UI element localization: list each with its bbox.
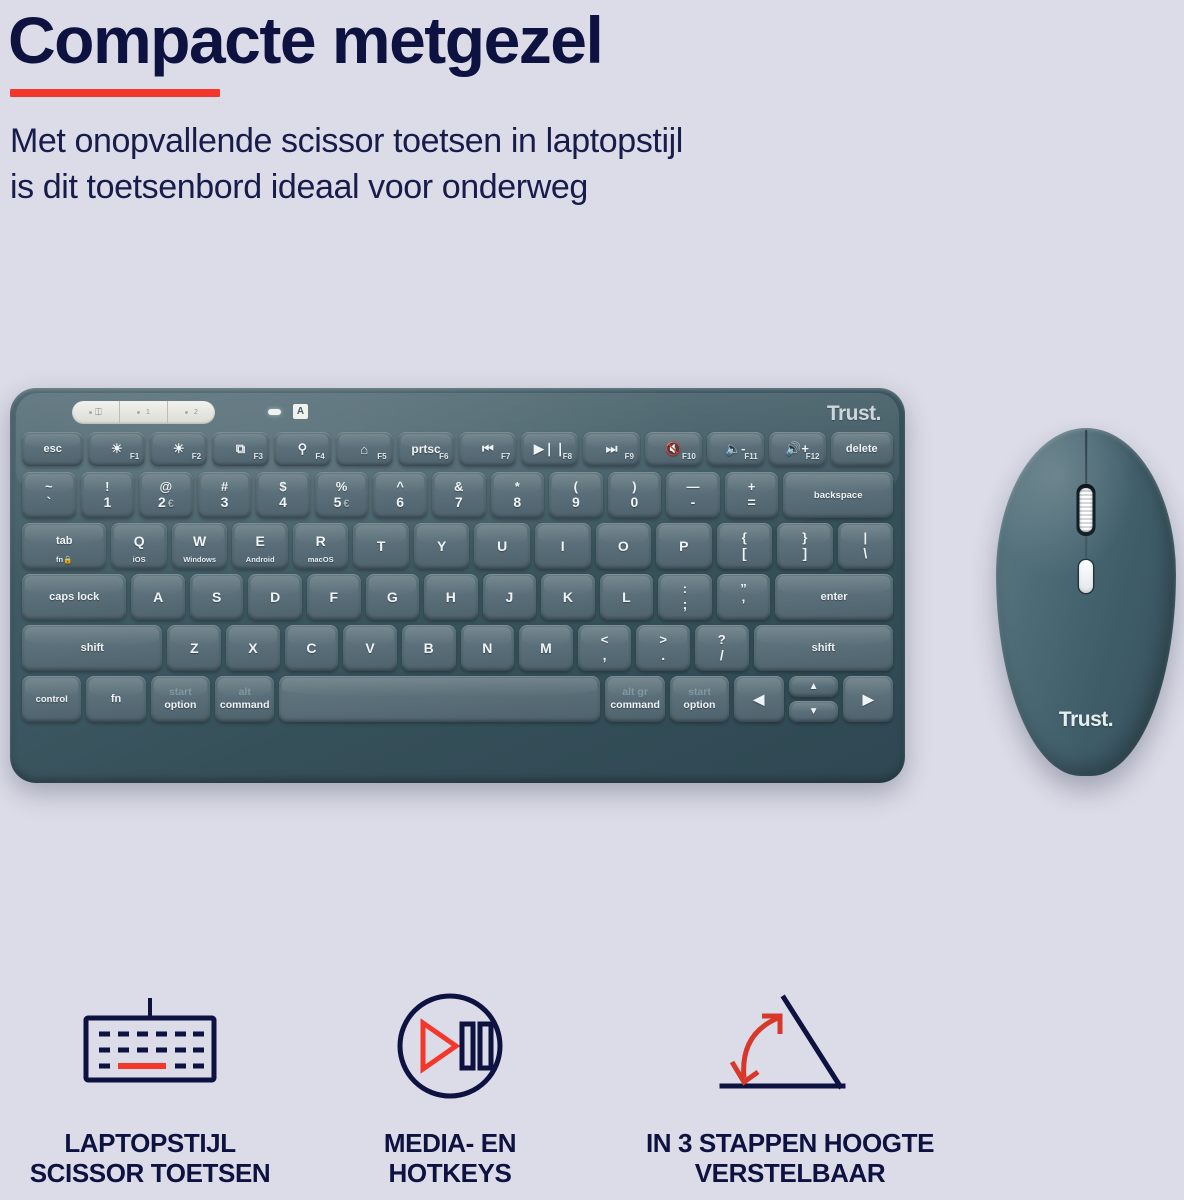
key-c[interactable]: C — [285, 625, 339, 671]
key-u[interactable]: U — [474, 523, 530, 569]
euro-symbol: € — [168, 498, 174, 510]
key-backspace[interactable]: backspace — [783, 472, 893, 518]
key-label-secondary: alt gr — [622, 686, 648, 699]
key-label: A — [153, 589, 163, 605]
key-arrow-right[interactable]: ▶ — [843, 676, 893, 722]
key-v[interactable]: V — [343, 625, 397, 671]
key-legend-upper: * — [515, 480, 520, 494]
key-9[interactable]: (9 — [549, 472, 603, 518]
key-f5-home[interactable]: ⌂F5 — [336, 432, 393, 466]
key-fnum: F4 — [315, 452, 324, 461]
key-fnum: F2 — [192, 452, 201, 461]
key-y[interactable]: Y — [414, 523, 470, 569]
key-f[interactable]: F — [307, 574, 361, 620]
header: Compacte metgezel Met onopvallende sciss… — [8, 0, 1008, 210]
key-shift-right[interactable]: shift — [754, 625, 893, 671]
key-t[interactable]: T — [353, 523, 409, 569]
key-label: enter — [821, 591, 848, 603]
key-label: H — [446, 589, 456, 605]
key-legend-lower: ` — [46, 495, 51, 510]
key-label: X — [248, 640, 257, 656]
key-legend-lower: [ — [742, 546, 747, 561]
key-label: prtsc — [411, 442, 440, 456]
key-label: C — [306, 640, 316, 656]
channel-usb-receiver[interactable]: ⎅ — [72, 401, 119, 424]
key-r[interactable]: RmacOS — [293, 523, 349, 569]
os-sublabel-ios: iOS — [111, 555, 167, 564]
channel-label: 2 — [194, 409, 198, 416]
key-row-function: esc ☀F1 ☀F2 ⧉F3 ⚲F4 ⌂F5 prtscF6 ⏮F7 ▶❘❘F… — [22, 432, 893, 466]
key-legend-lower: ; — [683, 597, 688, 612]
key-l[interactable]: L — [600, 574, 654, 620]
key-n[interactable]: N — [461, 625, 515, 671]
key-b[interactable]: B — [402, 625, 456, 671]
key-esc[interactable]: esc — [22, 432, 83, 466]
mouse-product-image: Trust. — [996, 428, 1176, 776]
key-a[interactable]: A — [131, 574, 185, 620]
key-legend-lower: ] — [802, 546, 807, 561]
media-play-pause-icon — [330, 990, 570, 1102]
key-delete[interactable]: delete — [831, 432, 894, 466]
key-legend-lower: 9 — [572, 495, 580, 510]
caps-lock-badge: A — [293, 404, 308, 419]
key-f1-brightness-down[interactable]: ☀F1 — [88, 432, 145, 466]
key-period[interactable]: >. — [636, 625, 690, 671]
mouse-brand-logo: Trust. — [996, 708, 1176, 732]
key-5[interactable]: %5€ — [315, 472, 369, 518]
key-legend-lower: - — [691, 495, 696, 510]
key-caps-lock[interactable]: caps lock — [22, 574, 126, 620]
key-legend-upper: $ — [279, 480, 286, 494]
key-legend-lower: 0 — [631, 495, 639, 510]
key-fnum: F1 — [130, 452, 139, 461]
key-legend-lower: / — [720, 648, 724, 663]
previous-track-icon: ⏮ — [482, 441, 494, 457]
key-f9-next-track[interactable]: ⏭F9 — [583, 432, 640, 466]
key-row-shift: shift Z X C V B N M <, >. ?/ shift — [22, 625, 893, 671]
key-8[interactable]: *8 — [491, 472, 545, 518]
key-label: E — [255, 533, 264, 549]
key-label: D — [270, 589, 280, 605]
adjustable-angle-icon — [600, 990, 980, 1102]
arrow-up-icon: ▲ — [809, 681, 819, 692]
key-label: R — [316, 533, 326, 549]
key-alt-command-left[interactable]: altcommand — [215, 676, 274, 722]
subtitle-line-2: is dit toetsenbord ideaal voor onderweg — [10, 165, 1008, 210]
key-legend-upper: ” — [740, 582, 747, 596]
key-label: I — [561, 538, 565, 554]
key-label: fn — [111, 693, 121, 705]
volume-down-icon: 🔈- — [725, 441, 746, 457]
key-label-primary: option — [683, 699, 715, 712]
key-0[interactable]: )0 — [608, 472, 662, 518]
key-j[interactable]: J — [483, 574, 537, 620]
key-minus[interactable]: —- — [666, 472, 720, 518]
key-bracket-left[interactable]: {[ — [717, 523, 773, 569]
key-k[interactable]: K — [541, 574, 595, 620]
key-label: caps lock — [49, 591, 99, 603]
dpi-button[interactable] — [1079, 560, 1093, 593]
key-3[interactable]: #3 — [198, 472, 252, 518]
key-label: N — [482, 640, 492, 656]
key-m[interactable]: M — [519, 625, 573, 671]
key-6[interactable]: ^6 — [373, 472, 427, 518]
key-x[interactable]: X — [226, 625, 280, 671]
key-g[interactable]: G — [366, 574, 420, 620]
key-label: W — [193, 533, 206, 549]
key-fn[interactable]: fn — [86, 676, 145, 722]
key-label: P — [679, 538, 688, 554]
channel-led-dot — [137, 411, 140, 414]
fn-lock-sublabel: fn🔒 — [22, 555, 106, 564]
key-label: delete — [846, 443, 878, 455]
key-arrow-up[interactable]: ▲ — [789, 676, 839, 697]
search-icon: ⚲ — [298, 441, 308, 457]
key-legend-upper: % — [336, 480, 348, 494]
mouse-shell: Trust. — [996, 428, 1176, 776]
key-arrow-down[interactable]: ▼ — [789, 701, 839, 722]
scroll-wheel-slot — [1077, 484, 1096, 536]
keyboard-icon — [10, 990, 290, 1102]
keyboard-status-bar: ⎅ 𞅎 1 𞅎 2 A Trust. — [10, 396, 905, 430]
brightness-down-icon: ☀ — [111, 441, 123, 457]
feature-label-line-2: VERSTELBAAR — [600, 1158, 980, 1188]
key-shift-left[interactable]: shift — [22, 625, 162, 671]
channel-bluetooth-1[interactable]: 𞅎 1 — [119, 401, 167, 424]
subtitle: Met onopvallende scissor toetsen in lapt… — [10, 119, 1008, 209]
key-2[interactable]: @2€ — [139, 472, 193, 518]
usb-receiver-icon: ⎅ — [95, 408, 102, 417]
feature-label: LAPTOPSTIJL SCISSOR TOETSEN — [10, 1128, 290, 1189]
key-e[interactable]: EAndroid — [232, 523, 288, 569]
mute-icon: 🔇 — [665, 441, 681, 457]
key-fnum: F10 — [682, 452, 696, 461]
key-z[interactable]: Z — [167, 625, 221, 671]
key-label: tab — [56, 535, 73, 547]
key-spacebar[interactable] — [279, 676, 600, 722]
feature-label-line-1: LAPTOPSTIJL — [10, 1128, 290, 1158]
key-label: K — [563, 589, 573, 605]
key-legend-upper: { — [742, 531, 747, 545]
key-semicolon[interactable]: :; — [658, 574, 712, 620]
key-f12-volume-up[interactable]: 🔊+F12 — [769, 432, 826, 466]
key-label: Z — [190, 640, 199, 656]
key-f11-volume-down[interactable]: 🔈-F11 — [707, 432, 764, 466]
arrow-down-icon: ▼ — [809, 706, 819, 717]
key-fnum: F5 — [377, 452, 386, 461]
key-fnum: F3 — [254, 452, 263, 461]
status-led — [268, 409, 281, 415]
key-bracket-right[interactable]: }] — [777, 523, 833, 569]
key-legend-upper: } — [802, 531, 807, 545]
key-legend-upper: | — [864, 531, 868, 545]
os-sublabel-windows: Windows — [172, 555, 228, 564]
key-equals[interactable]: += — [725, 472, 779, 518]
key-start-option-right[interactable]: startoption — [670, 676, 729, 722]
scroll-wheel[interactable] — [1080, 488, 1093, 532]
key-label: F — [329, 589, 338, 605]
key-label: shift — [812, 642, 835, 654]
key-tab[interactable]: tabfn🔒 — [22, 523, 106, 569]
key-label: Y — [437, 538, 446, 554]
key-f4-search[interactable]: ⚲F4 — [274, 432, 331, 466]
key-legend-lower: 7 — [455, 495, 463, 510]
key-fnum: F12 — [806, 452, 820, 461]
next-track-icon: ⏭ — [606, 441, 618, 457]
key-legend-lower: , — [603, 648, 607, 663]
key-label: S — [212, 589, 221, 605]
feature-label-line-1: IN 3 STAPPEN HOOGTE — [600, 1128, 980, 1158]
key-row-home: caps lock A S D F G H J K L :; ”’ enter — [22, 574, 893, 620]
key-h[interactable]: H — [424, 574, 478, 620]
key-legend-upper: — — [686, 480, 699, 494]
feature-label-line-1: MEDIA- EN — [330, 1128, 570, 1158]
key-label: Q — [134, 533, 145, 549]
key-legend-lower: \ — [863, 546, 867, 561]
play-pause-icon: ▶❘❘ — [534, 441, 566, 457]
key-comma[interactable]: <, — [578, 625, 632, 671]
key-slash[interactable]: ?/ — [695, 625, 749, 671]
subtitle-line-1: Met onopvallende scissor toetsen in lapt… — [10, 119, 1008, 164]
key-label: backspace — [814, 490, 863, 501]
key-f8-play-pause[interactable]: ▶❘❘F8 — [521, 432, 578, 466]
key-grid: esc ☀F1 ☀F2 ⧉F3 ⚲F4 ⌂F5 prtscF6 ⏮F7 ▶❘❘F… — [22, 432, 893, 769]
feature-label: IN 3 STAPPEN HOOGTE VERSTELBAAR — [600, 1128, 980, 1189]
os-sublabel-android: Android — [232, 555, 288, 564]
key-legend-upper: & — [454, 480, 463, 494]
key-7[interactable]: &7 — [432, 472, 486, 518]
key-legend-lower: 1 — [103, 495, 111, 510]
key-4[interactable]: $4 — [256, 472, 310, 518]
key-legend-upper: > — [659, 633, 667, 647]
key-label-primary: command — [220, 699, 270, 712]
key-legend-lower: . — [661, 648, 665, 663]
feature-label-line-2: SCISSOR TOETSEN — [10, 1158, 290, 1188]
feature-laptop-scissor-keys: LAPTOPSTIJL SCISSOR TOETSEN — [10, 990, 290, 1189]
key-legend-lower: 6 — [396, 495, 404, 510]
key-altgr-command-right[interactable]: alt grcommand — [605, 676, 664, 722]
key-label: J — [505, 589, 513, 605]
home-icon: ⌂ — [360, 442, 368, 457]
key-legend-lower: 8 — [513, 495, 521, 510]
key-legend-lower: ’ — [742, 597, 746, 612]
task-view-icon: ⧉ — [236, 441, 245, 457]
arrow-left-icon: ◀ — [754, 691, 765, 708]
key-legend-lower: 2 — [158, 494, 166, 510]
key-label: esc — [44, 443, 62, 455]
key-row-numbers: ~` !1 @2€ #3 $4 %5€ ^6 &7 *8 (9 )0 —- +=… — [22, 472, 893, 518]
key-legend-lower: 4 — [279, 495, 287, 510]
feature-strip: LAPTOPSTIJL SCISSOR TOETSEN MEDIA- EN HO… — [0, 990, 1184, 1200]
key-label: G — [387, 589, 398, 605]
key-fnum: F7 — [501, 452, 510, 461]
feature-label-line-2: HOTKEYS — [330, 1158, 570, 1188]
key-s[interactable]: S — [190, 574, 244, 620]
key-d[interactable]: D — [248, 574, 302, 620]
key-label: B — [424, 640, 434, 656]
key-legend-upper: + — [748, 480, 756, 494]
key-f10-mute[interactable]: 🔇F10 — [645, 432, 702, 466]
key-legend-upper: ) — [632, 480, 636, 494]
key-legend-upper: # — [221, 480, 228, 494]
key-o[interactable]: O — [596, 523, 652, 569]
key-label: M — [540, 640, 552, 656]
key-legend-upper: < — [601, 633, 609, 647]
channel-selector[interactable]: ⎅ 𞅎 1 𞅎 2 — [72, 401, 215, 424]
feature-label: MEDIA- EN HOTKEYS — [330, 1128, 570, 1189]
key-label: V — [365, 640, 374, 656]
key-arrow-left[interactable]: ◀ — [734, 676, 784, 722]
key-control[interactable]: control — [22, 676, 81, 722]
keyboard-product-image: ⎅ 𞅎 1 𞅎 2 A Trust. esc — [10, 388, 905, 783]
key-fnum: F8 — [563, 452, 572, 461]
key-legend-lower: 5 — [334, 494, 342, 510]
channel-led-dot — [89, 411, 92, 414]
feature-media-hotkeys: MEDIA- EN HOTKEYS — [330, 990, 570, 1189]
key-legend-upper: : — [683, 582, 687, 596]
keyboard-brand-logo: Trust. — [827, 402, 881, 426]
key-legend-upper: ^ — [396, 480, 404, 494]
key-row-qwerty: tabfn🔒 QiOS WWindows EAndroid RmacOS T Y… — [22, 523, 893, 569]
key-label-secondary: start — [688, 686, 711, 699]
key-i[interactable]: I — [535, 523, 591, 569]
key-tilde[interactable]: ~` — [22, 472, 76, 518]
key-f3-task-view[interactable]: ⧉F3 — [212, 432, 269, 466]
key-fnum: F6 — [439, 452, 448, 461]
brightness-up-icon: ☀ — [173, 441, 185, 457]
page-title: Compacte metgezel — [8, 6, 1008, 75]
key-label: O — [618, 538, 629, 554]
key-f6-print-screen[interactable]: prtscF6 — [398, 432, 455, 466]
key-fnum: F9 — [625, 452, 634, 461]
key-label: L — [622, 589, 631, 605]
key-legend-upper: @ — [160, 480, 173, 494]
feature-height-adjustable: IN 3 STAPPEN HOOGTE VERSTELBAAR — [600, 990, 980, 1189]
euro-symbol: € — [343, 498, 349, 510]
key-row-modifiers: control fn startoption altcommand alt gr… — [22, 676, 893, 722]
key-p[interactable]: P — [656, 523, 712, 569]
key-q[interactable]: QiOS — [111, 523, 167, 569]
key-label-secondary: start — [169, 686, 192, 699]
key-label-primary: command — [610, 699, 660, 712]
key-legend-lower: 3 — [221, 495, 229, 510]
key-quote[interactable]: ”’ — [717, 574, 771, 620]
keyboard-chassis: ⎅ 𞅎 1 𞅎 2 A Trust. esc — [10, 388, 905, 783]
key-label: control — [36, 694, 68, 705]
arrow-right-icon: ▶ — [863, 691, 874, 708]
channel-led-dot — [185, 411, 188, 414]
key-label: U — [497, 538, 507, 554]
key-backslash[interactable]: |\ — [838, 523, 894, 569]
key-fnum: F11 — [744, 452, 757, 461]
key-enter[interactable]: enter — [775, 574, 893, 620]
key-label: T — [377, 538, 386, 554]
channel-bluetooth-2[interactable]: 𞅎 2 — [167, 401, 215, 424]
key-label: shift — [81, 642, 104, 654]
key-f7-previous-track[interactable]: ⏮F7 — [459, 432, 516, 466]
os-sublabel-macos: macOS — [293, 555, 349, 564]
key-1[interactable]: !1 — [81, 472, 135, 518]
key-legend-upper: ? — [718, 633, 726, 647]
key-start-option-left[interactable]: startoption — [151, 676, 210, 722]
key-legend-upper: ~ — [45, 480, 53, 494]
accent-rule — [10, 89, 220, 97]
channel-label: 1 — [146, 409, 150, 416]
key-w[interactable]: WWindows — [172, 523, 228, 569]
key-label-primary: option — [164, 699, 196, 712]
key-legend-upper: ! — [105, 480, 109, 494]
key-legend-lower: = — [747, 495, 755, 510]
key-f2-brightness-up[interactable]: ☀F2 — [150, 432, 207, 466]
key-label-secondary: alt — [239, 686, 251, 699]
key-legend-upper: ( — [574, 480, 578, 494]
arrow-up-down-group: ▲ ▼ — [789, 676, 839, 722]
